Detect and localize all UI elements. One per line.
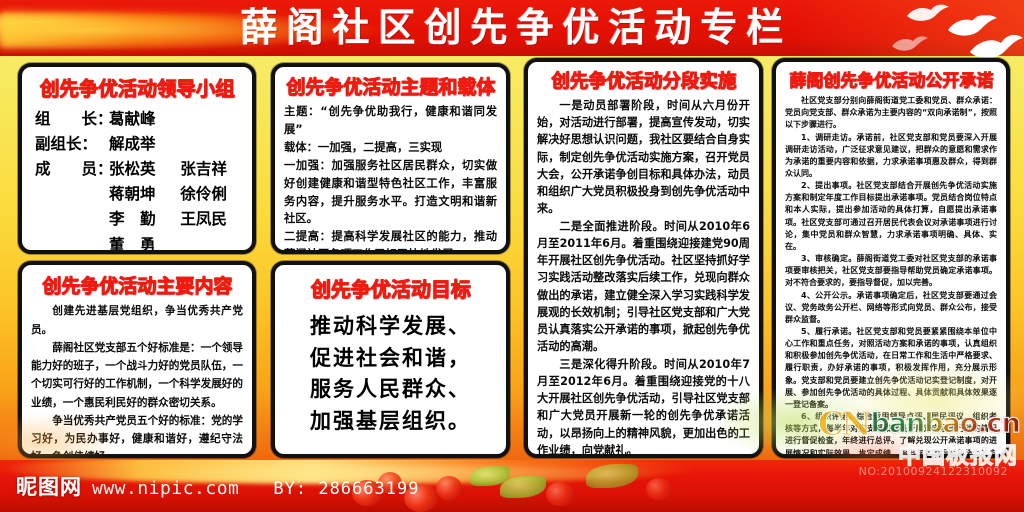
goal-line: 推动科学发展、 [284, 311, 497, 343]
flower-icon [546, 482, 574, 506]
panel-body-stages: 一是动员部署阶段，时间从六月份开始，对活动进行部署，提高宣传发动，切实解决好思想… [537, 97, 750, 458]
roster-name: 徐伶俐 [180, 185, 227, 203]
goal-line-list: 推动科学发展、 促进社会和谐， 服务人民群众、 加强基层组织。 [284, 311, 497, 439]
leadership-roster: 组 长： 葛献峰 副组长： 解成举 成 员： 张松英 张吉祥 蒋朝坤 徐伶俐 [31, 107, 243, 254]
roster-role: 副组长： [35, 132, 109, 157]
paragraph: 载体：一加强，二提高，三实现 [284, 139, 497, 157]
roster-row: 董 勇 [35, 233, 243, 254]
paragraph: 一加强：加强服务社区居民群众，切实做好创建健康和谐型特色社区工作，丰富服务内容，… [284, 157, 497, 228]
leaf-icon [586, 464, 638, 488]
roster-name: 李 勤 [109, 207, 175, 232]
goal-line: 促进社会和谐， [284, 343, 497, 375]
roster-role: 成 员： [35, 157, 109, 182]
paragraph: 6、组织评诺。综合运用领导点评、居民评议、组织考核等方式，每半年对党支部和党员开… [785, 411, 997, 458]
roster-name: 张吉祥 [180, 160, 227, 178]
paragraph: 2、提出事项。社区党支部结合开展创先争优活动实施方案和制定年度工作目标提出承诺事… [785, 180, 997, 253]
roster-role: 组 长： [35, 107, 109, 132]
paragraph: 争当优秀共产党员五个好的标准：党的学习好，为民办事好，健康和谐好，遵纪守法好，争… [31, 412, 243, 458]
roster-name: 王凤民 [180, 210, 227, 228]
panel-title-stages: 创先争优活动分段实施 [537, 71, 750, 93]
site-url[interactable]: www.nipic.com [92, 478, 239, 499]
roster-name: 解成举 [109, 132, 175, 157]
footer-brand: 昵图网 www.nipic.com BY: 286663199 [16, 471, 419, 501]
panel-staged-implementation: 创先争优活动分段实施 一是动员部署阶段，时间从六月份开始，对活动进行部署，提高宣… [524, 58, 763, 458]
paragraph: 4、公开公示。承诺事项确定后，社区党支部要通过会议、党务政务公开栏、网络等形式向… [785, 290, 997, 326]
leaf-icon [500, 476, 546, 498]
goal-line: 服务人民群众、 [284, 374, 497, 406]
page-title: 薛阁社区创先争优活动专栏 [0, 2, 1024, 53]
roster-name: 葛献峰 [109, 107, 175, 132]
panel-title-goal: 创先争优活动目标 [284, 278, 497, 302]
panel-title-content: 创先争优活动主要内容 [31, 275, 243, 297]
roster-name: 张松英 [109, 157, 175, 182]
paragraph: 薛阁社区党支部五个好标准是：一个领导能力好的班子，一个战斗力好的党员队伍，一个切… [31, 339, 243, 412]
footer-bar: 昵图网 www.nipic.com BY: 286663199 [0, 460, 1024, 512]
paragraph: 三是深化得升阶段。时间从2010年7月至2012年6月。着重围绕迎接党的十八大开… [537, 356, 750, 458]
bulletin-board-poster: 薛阁社区创先争优活动专栏 创先争优活动领导小组 [0, 0, 1024, 512]
panel-body-pledge: 社区党支部分别向薛阁街道党工委和党员、群众承诺：党员向党支部、群众承诺为主要内容… [785, 95, 997, 458]
site-name: 昵图网 [16, 471, 82, 501]
panel-activity-goal: 创先争优活动目标 推动科学发展、 促进社会和谐， 服务人民群众、 加强基层组织。 [271, 261, 510, 458]
roster-row: 李 勤 王凤民 [35, 207, 243, 232]
paragraph: 社区党支部分别向薛阁街道党工委和党员、群众承诺：党员向党支部、群众承诺为主要内容… [785, 95, 997, 131]
roster-row: 成 员： 张松英 张吉祥 [35, 157, 243, 182]
panel-public-pledge: 薛阁创先争优活动公开承诺 社区党支部分别向薛阁街道党工委和党员、群众承诺：党员向… [772, 58, 1010, 458]
paragraph: 3、审核确定。薛阁街道党工委对社区党支部的承诺事项要审核把关，社区党支部要指导帮… [785, 253, 997, 289]
banner-header: 薛阁社区创先争优活动专栏 [0, 0, 1024, 56]
author-credit: BY: 286663199 [273, 479, 419, 499]
panel-theme-and-carrier: 创先争优活动主题和载体 主题：“创先争优助我行，健康和谐同发展” 载体：一加强，… [271, 63, 510, 254]
panel-body-content: 创建先进基层党组织，争当优秀共产党员。 薛阁社区党支部五个好标准是：一个领导能力… [31, 302, 243, 458]
paragraph: 主题：“创先争优助我行，健康和谐同发展” [284, 103, 497, 139]
panel-main-content: 创先争优活动主要内容 创建先进基层党组织，争当优秀共产党员。 薛阁社区党支部五个… [18, 261, 256, 458]
panel-leadership-group: 创先争优活动领导小组 组 长： 葛献峰 副组长： 解成举 成 员： 张松英 张吉… [18, 63, 256, 254]
roster-name: 董 勇 [109, 233, 175, 254]
roster-row: 副组长： 解成举 [35, 132, 243, 157]
panel-title-pledge: 薛阁创先争优活动公开承诺 [785, 71, 997, 91]
paragraph: 创建先进基层党组织，争当优秀共产党员。 [31, 302, 243, 338]
panel-body-theme: 主题：“创先争优助我行，健康和谐同发展” 载体：一加强，二提高，三实现 一加强：… [284, 103, 497, 254]
roster-name: 蒋朝坤 [109, 182, 175, 207]
panel-title-leadership: 创先争优活动领导小组 [31, 77, 243, 100]
panel-title-theme: 创先争优活动主题和载体 [284, 76, 497, 98]
goal-line: 加强基层组织。 [284, 406, 497, 438]
paragraph: 1、调研走访。承诺前，社区党支部和党员要深入开展调研走访活动，广泛征求意见建议，… [785, 132, 997, 181]
flower-icon [646, 478, 672, 500]
paragraph: 二是全面推进阶段。时间从2010年6月至2011年6月。着重围绕迎接建党90周年… [537, 218, 750, 356]
paragraph: 5、履行承诺。社区党支部和党员要紧紧围绕本单位中心工作和重点任务，对照活动方案和… [785, 326, 997, 411]
roster-row: 蒋朝坤 徐伶俐 [35, 182, 243, 207]
roster-row: 组 长： 葛献峰 [35, 107, 243, 132]
paragraph: 一是动员部署阶段，时间从六月份开始，对活动进行部署，提高宣传发动，切实解决好思想… [537, 97, 750, 218]
flower-icon [436, 476, 462, 500]
paragraph: 二提高：提高科学发展社区的能力，推动薛阁社区各项工作又好又快地发展。 [284, 228, 497, 254]
